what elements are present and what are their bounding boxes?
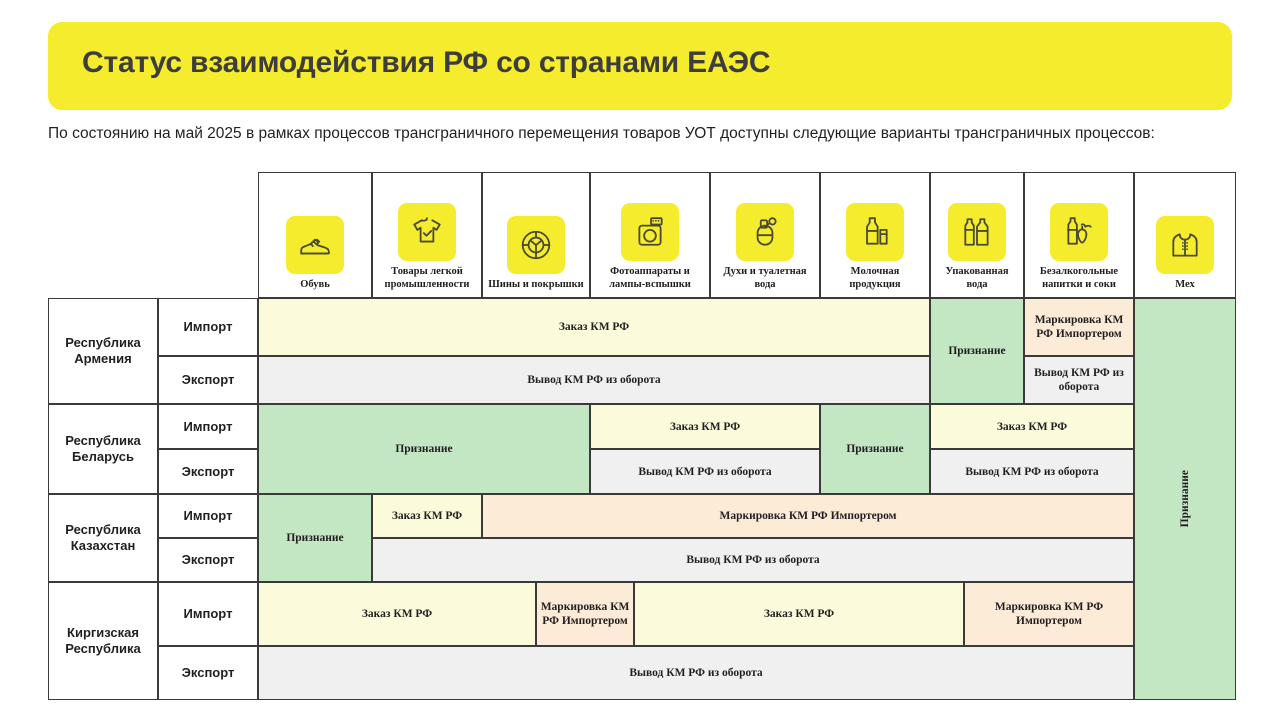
- column-header-label: Духи и туалетная вода: [711, 266, 819, 291]
- cell-fur-recognition: Признание: [1134, 298, 1236, 700]
- tshirt-icon: [398, 203, 456, 261]
- row-label-kyrgyz-import: Импорт: [158, 582, 258, 646]
- column-header-light-industry: Товары легкой промышленности: [372, 172, 482, 298]
- country-label-kazakhstan: Республика Казахстан: [48, 494, 158, 582]
- milk-icon: [846, 203, 904, 261]
- cell-belarus-recognition-mid: Признание: [820, 404, 930, 494]
- shoe-icon: [286, 216, 344, 274]
- country-label-belarus: Республика Беларусь: [48, 404, 158, 494]
- column-header-fur: Мех: [1134, 172, 1236, 298]
- column-header-cameras: Фотоаппараты и лампы-вспышки: [590, 172, 710, 298]
- row-label-kyrgyz-export: Экспорт: [158, 646, 258, 700]
- row-label-kazakhstan-import: Импорт: [158, 494, 258, 538]
- cell-belarus-recognition-left: Признание: [258, 404, 590, 494]
- column-header-label: Упакованная вода: [931, 266, 1023, 291]
- row-label-armenia-export: Экспорт: [158, 356, 258, 404]
- cell-kyrgyz-import-order-left: Заказ КМ РФ: [258, 582, 536, 646]
- column-header-label: Безалкогольные напитки и соки: [1025, 266, 1133, 291]
- column-header-soft-drinks: Безалкогольные напитки и соки: [1024, 172, 1134, 298]
- cell-belarus-import-order-right: Заказ КМ РФ: [930, 404, 1134, 449]
- row-label-kazakhstan-export: Экспорт: [158, 538, 258, 582]
- water-bottle-icon: [948, 203, 1006, 261]
- cell-kyrgyz-import-marking-right: Маркировка КМ РФ Импортером: [964, 582, 1134, 646]
- intro-paragraph: По состоянию на май 2025 в рамках процес…: [48, 123, 1208, 145]
- cell-fur-recognition-label: Признание: [1178, 470, 1192, 527]
- page-title: Статус взаимодействия РФ со странами ЕАЭ…: [82, 46, 770, 80]
- perfume-icon: [736, 203, 794, 261]
- cell-kyrgyz-import-order-right: Заказ КМ РФ: [634, 582, 964, 646]
- cell-kazakhstan-import-marking: Маркировка КМ РФ Импортером: [482, 494, 1134, 538]
- cell-kazakhstan-recognition: Признание: [258, 494, 372, 582]
- cell-kazakhstan-export-withdrawal: Вывод КМ РФ из оборота: [372, 538, 1134, 582]
- tire-icon: [507, 216, 565, 274]
- cell-kyrgyz-import-marking-mid: Маркировка КМ РФ Импортером: [536, 582, 634, 646]
- title-banner: Статус взаимодействия РФ со странами ЕАЭ…: [48, 22, 1232, 110]
- country-label-armenia: Республика Армения: [48, 298, 158, 404]
- row-label-armenia-import: Импорт: [158, 298, 258, 356]
- cell-kyrgyz-export-withdrawal: Вывод КМ РФ из оборота: [258, 646, 1134, 700]
- cell-armenia-export-withdrawal: Вывод КМ РФ из оборота: [258, 356, 930, 404]
- row-label-belarus-export: Экспорт: [158, 449, 258, 494]
- column-header-bottled-water: Упакованная вода: [930, 172, 1024, 298]
- row-label-belarus-import: Импорт: [158, 404, 258, 449]
- column-header-label: Шины и покрышки: [485, 279, 586, 292]
- column-header-label: Товары легкой промышленности: [373, 266, 481, 291]
- column-header-label: Молочная продукция: [821, 266, 929, 291]
- cell-armenia-export-withdrawal-right: Вывод КМ РФ из оборота: [1024, 356, 1134, 404]
- country-label-kyrgyz: Киргизская Республика: [48, 582, 158, 700]
- cell-belarus-export-withdrawal-mid: Вывод КМ РФ из оборота: [590, 449, 820, 494]
- cell-armenia-import-marking: Маркировка КМ РФ Импортером: [1024, 298, 1134, 356]
- cell-belarus-import-order-mid: Заказ КМ РФ: [590, 404, 820, 449]
- column-header-shoe: Обувь: [258, 172, 372, 298]
- column-header-label: Фотоаппараты и лампы-вспышки: [591, 266, 709, 291]
- camera-icon: [621, 203, 679, 261]
- cell-kazakhstan-import-order: Заказ КМ РФ: [372, 494, 482, 538]
- column-header-dairy: Молочная продукция: [820, 172, 930, 298]
- column-header-perfume: Духи и туалетная вода: [710, 172, 820, 298]
- status-matrix: Обувь Товары легкой промышленности Шины …: [48, 172, 1236, 700]
- cell-armenia-recognition: Признание: [930, 298, 1024, 404]
- juice-icon: [1050, 203, 1108, 261]
- cell-belarus-export-withdrawal-right: Вывод КМ РФ из оборота: [930, 449, 1134, 494]
- column-header-tires: Шины и покрышки: [482, 172, 590, 298]
- cell-armenia-import-order: Заказ КМ РФ: [258, 298, 930, 356]
- fur-coat-icon: [1156, 216, 1214, 274]
- column-header-label: Мех: [1172, 279, 1197, 292]
- column-header-label: Обувь: [297, 279, 333, 292]
